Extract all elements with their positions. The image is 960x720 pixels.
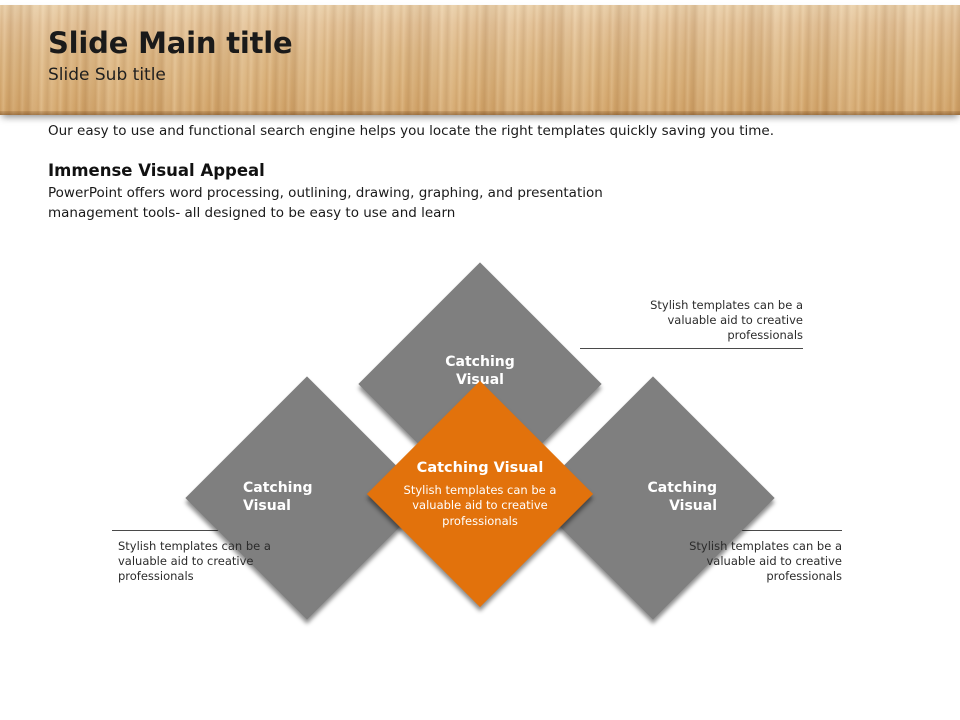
connector-line-top-right bbox=[580, 348, 803, 349]
diamond-right-title-line-2: Visual bbox=[648, 497, 717, 515]
diamond-left-title: Catching Visual bbox=[243, 479, 312, 515]
diamond-top-title-line-1: Catching bbox=[445, 353, 514, 371]
diamond-left-title-line-2: Visual bbox=[243, 497, 312, 515]
diamond-right-title-line-1: Catching bbox=[648, 479, 717, 497]
diamond-center-label: Catching Visual Stylish templates can be… bbox=[400, 414, 560, 574]
diamond-center[interactable]: Catching Visual Stylish templates can be… bbox=[367, 381, 593, 607]
header-text-group: Slide Main title Slide Sub title bbox=[48, 28, 292, 85]
diamond-left-title-line-1: Catching bbox=[243, 479, 312, 497]
diamond-diagram: Catching Visual Catching Visual Catching… bbox=[0, 0, 960, 720]
diamond-right-title: Catching Visual bbox=[648, 479, 717, 515]
diamond-center-title: Catching Visual bbox=[417, 459, 544, 478]
slide-sub-title: Slide Sub title bbox=[48, 66, 292, 85]
slide-canvas: Slide Main title Slide Sub title Our eas… bbox=[0, 0, 960, 720]
callout-top-right: Stylish templates can be a valuable aid … bbox=[603, 298, 803, 344]
callout-left: Stylish templates can be a valuable aid … bbox=[118, 539, 318, 585]
callout-bottom-right: Stylish templates can be a valuable aid … bbox=[642, 539, 842, 585]
slide-main-title: Slide Main title bbox=[48, 28, 292, 60]
diamond-center-body: Stylish templates can be a valuable aid … bbox=[394, 483, 566, 529]
